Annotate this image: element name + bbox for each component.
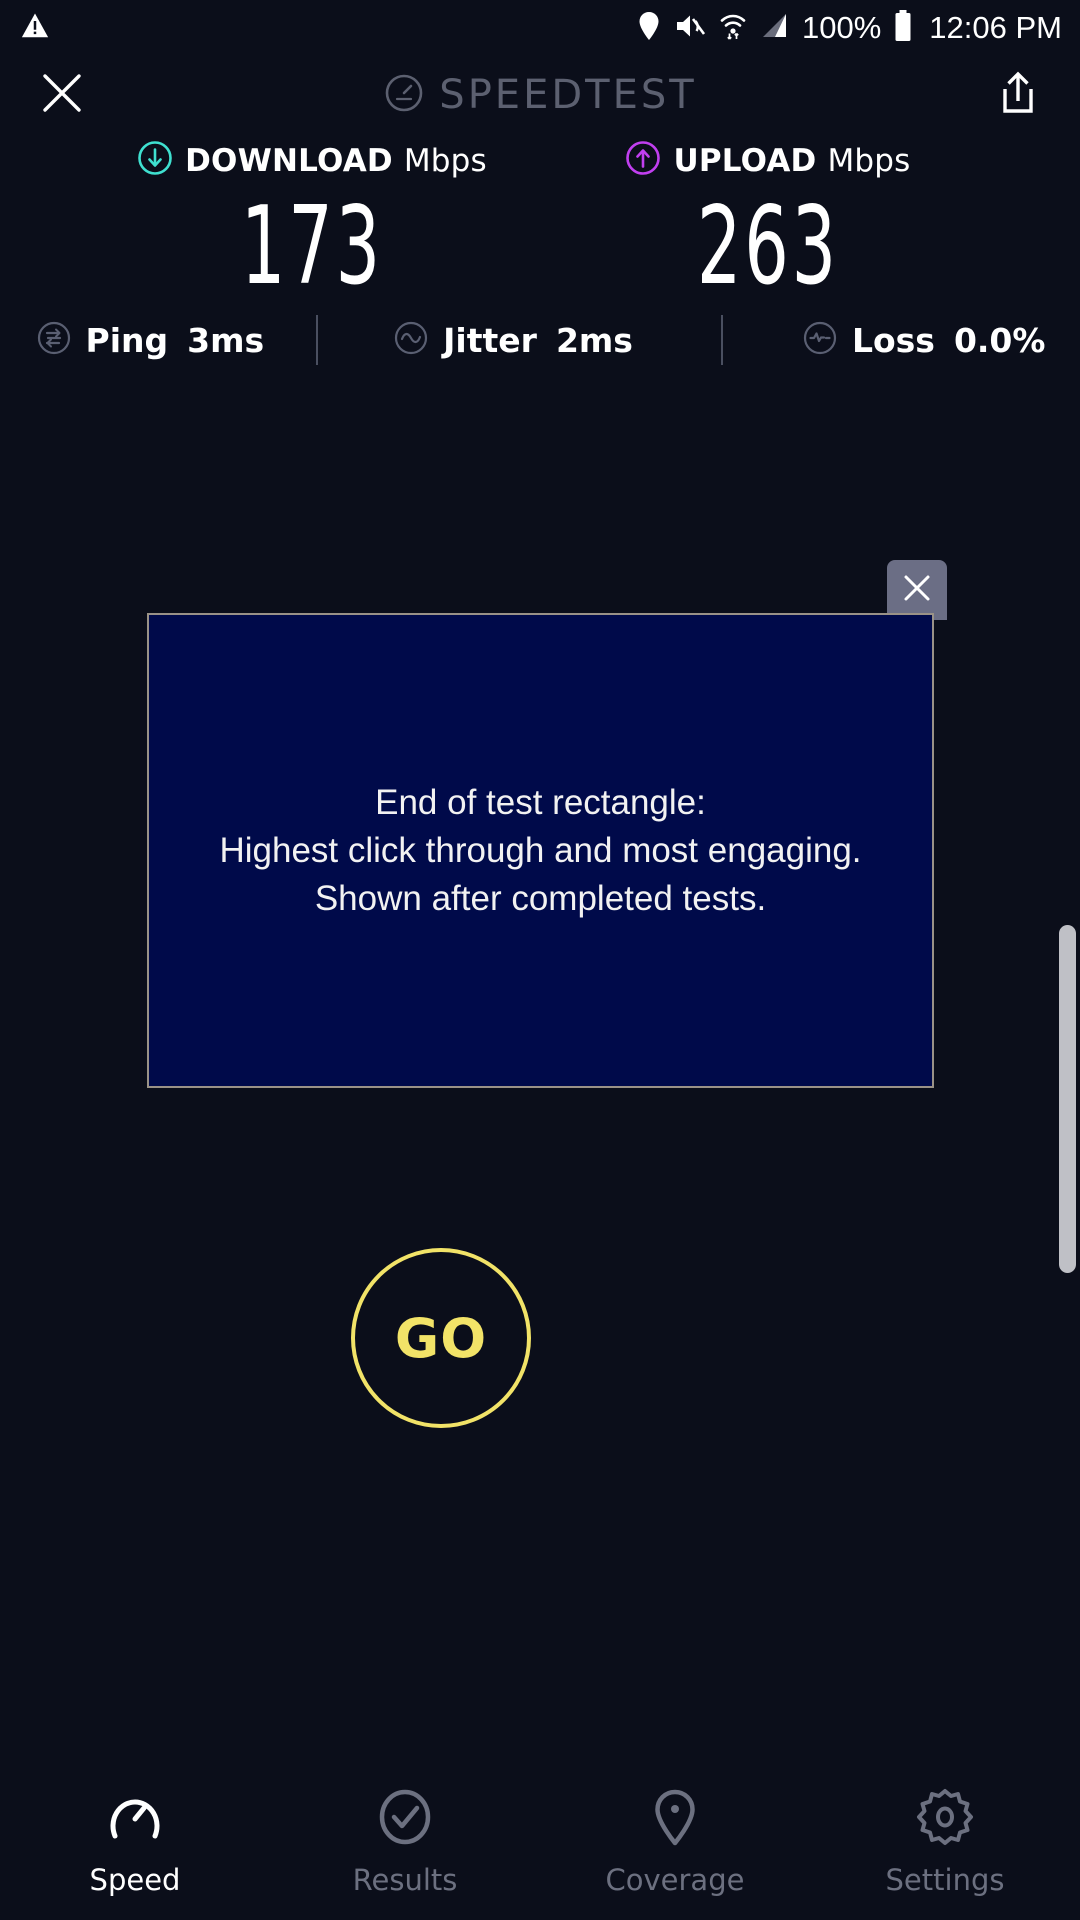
vertical-scrollbar[interactable] (1059, 925, 1076, 1273)
arrow-up-circle-icon (625, 140, 661, 181)
brand-title: SPEEDTEST (439, 72, 696, 118)
go-button[interactable]: GO (351, 1248, 531, 1428)
ping-icon (35, 319, 73, 362)
nav-item-coverage[interactable]: Coverage (540, 1774, 810, 1920)
stat-divider (316, 315, 318, 365)
nav-label-results: Results (353, 1863, 458, 1897)
loss-value: 0.0% (954, 321, 1046, 360)
ad-banner[interactable]: End of test rectangle: Highest click thr… (147, 613, 934, 1088)
stats-row: Ping 3ms Jitter 2ms (0, 315, 1080, 365)
speedtest-app-screen: 100% 12:06 PM (0, 0, 1080, 1920)
download-value: 173 (172, 193, 453, 301)
ad-close-button[interactable] (887, 560, 947, 620)
check-circle-icon (374, 1786, 436, 1853)
cellular-signal-icon (760, 11, 790, 46)
loss-icon (801, 319, 839, 362)
download-header: DOWNLOAD Mbps (117, 140, 507, 181)
stat-divider (721, 315, 723, 365)
ad-line-1: End of test rectangle: (219, 779, 861, 827)
battery-percent-label: 100% (802, 10, 881, 46)
go-button-label: GO (395, 1307, 487, 1370)
stat-loss: Loss 0.0% (801, 319, 1046, 362)
nav-label-settings: Settings (886, 1863, 1005, 1897)
share-button[interactable] (988, 65, 1048, 125)
nav-label-speed: Speed (90, 1863, 181, 1897)
ad-text: End of test rectangle: Highest click thr… (219, 779, 861, 923)
status-bar-clock: 12:06 PM (929, 10, 1062, 46)
jitter-value: 2ms (556, 321, 633, 360)
loss-label: Loss (852, 321, 935, 360)
warning-triangle-icon (20, 11, 50, 46)
brand: SPEEDTEST (0, 72, 1080, 119)
ad-line-3: Shown after completed tests. (219, 875, 861, 923)
volume-muted-icon (674, 11, 706, 46)
jitter-label: Jitter (443, 321, 537, 360)
nav-item-settings[interactable]: Settings (810, 1774, 1080, 1920)
download-label: DOWNLOAD Mbps (185, 143, 487, 179)
wifi-icon (718, 11, 748, 46)
share-icon (995, 69, 1041, 122)
location-pin-icon (644, 1786, 706, 1853)
upload-label: UPLOAD Mbps (673, 143, 910, 179)
ad-line-2: Highest click through and most engaging. (219, 827, 861, 875)
download-upload-row: DOWNLOAD Mbps 173 UPLOAD Mbps 263 (0, 140, 1080, 301)
gear-icon (914, 1786, 976, 1853)
stat-ping: Ping 3ms (35, 319, 265, 362)
upload-value: 263 (628, 193, 909, 301)
results-panel: DOWNLOAD Mbps 173 UPLOAD Mbps 263 (0, 140, 1080, 301)
bottom-navigation: Speed Results Coverage (0, 1774, 1080, 1920)
status-bar-right: 100% 12:06 PM (636, 10, 1062, 47)
nav-item-results[interactable]: Results (270, 1774, 540, 1920)
status-bar-left (20, 11, 50, 46)
arrow-down-circle-icon (137, 140, 173, 181)
close-icon (900, 571, 934, 610)
upload-metric: UPLOAD Mbps 263 (573, 140, 963, 301)
jitter-icon (392, 319, 430, 362)
status-bar: 100% 12:06 PM (0, 0, 1080, 56)
stat-jitter: Jitter 2ms (392, 319, 633, 362)
ping-value: 3ms (187, 321, 264, 360)
app-header: SPEEDTEST (0, 56, 1080, 134)
download-metric: DOWNLOAD Mbps 173 (117, 140, 507, 301)
speedometer-icon (383, 72, 425, 119)
nav-item-speed[interactable]: Speed (0, 1774, 270, 1920)
speedometer-icon (104, 1786, 166, 1853)
location-pin-icon (636, 11, 662, 46)
ping-label: Ping (86, 321, 169, 360)
battery-full-icon (893, 10, 913, 47)
nav-label-coverage: Coverage (606, 1863, 745, 1897)
upload-header: UPLOAD Mbps (573, 140, 963, 181)
